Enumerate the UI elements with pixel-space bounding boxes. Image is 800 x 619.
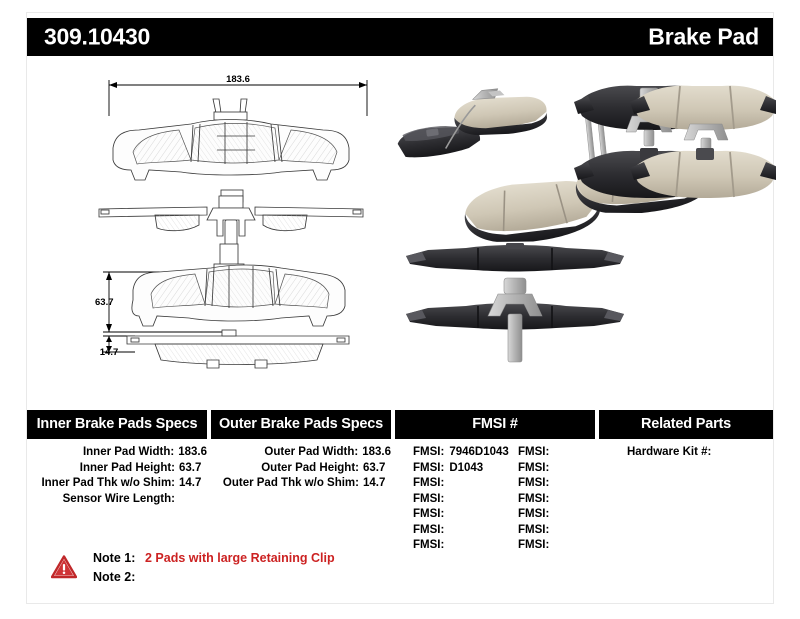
spec-label: Inner Pad Width: <box>27 446 178 458</box>
fmsi-row: FMSI: FMSI: <box>413 493 595 509</box>
spec-row: Outer Pad Height: 63.7 <box>211 462 391 478</box>
spec-value: 14.7 <box>179 477 201 489</box>
fmsi-key: FMSI: <box>518 462 554 478</box>
fmsi-row: FMSI:D1043 FMSI: <box>413 462 595 478</box>
pad-bottom-edge-view <box>127 330 349 368</box>
fmsi-key: FMSI: <box>413 462 449 478</box>
dimension-height-label: 63.7 <box>95 297 114 308</box>
spec-label: Outer Pad Width: <box>211 446 362 458</box>
spec-row: Inner Pad Width: 183.6 <box>27 446 207 462</box>
column-body-outer-specs: Outer Pad Width: 183.6 Outer Pad Height:… <box>211 439 391 508</box>
spec-label: Outer Pad Height: <box>211 462 363 474</box>
fmsi-row: FMSI: FMSI: <box>413 508 595 524</box>
spec-value: 183.6 <box>178 446 207 458</box>
note-1-row: Note 1: 2 Pads with large Retaining Clip <box>93 551 335 570</box>
column-header-inner-specs: Inner Brake Pads Specs <box>27 410 207 439</box>
fmsi-key: FMSI: <box>518 477 554 493</box>
fmsi-key: FMSI: <box>413 508 449 524</box>
fmsi-key: FMSI: <box>413 477 449 493</box>
column-header-fmsi: FMSI # <box>395 410 595 439</box>
note-1-text: 2 Pads with large Retaining Clip <box>145 551 335 565</box>
technical-drawing: 183.6 <box>95 68 405 378</box>
fmsi-key: FMSI: <box>518 446 554 462</box>
notes-section: Note 1: 2 Pads with large Retaining Clip… <box>48 551 468 593</box>
fmsi-row: FMSI: FMSI: <box>413 524 595 540</box>
note-2-row: Note 2: <box>93 570 335 589</box>
edge-view-pads-photo <box>406 243 624 362</box>
fmsi-row: FMSI:7946D1043 FMSI: <box>413 446 595 462</box>
column-outer-specs: Outer Brake Pads Specs Outer Pad Width: … <box>211 410 391 508</box>
spec-label: Inner Pad Height: <box>27 462 179 474</box>
fmsi-key: FMSI: <box>413 446 449 462</box>
datasheet-page: 309.10430 Brake Pad 183.6 <box>0 0 800 619</box>
dimension-thickness-label: 14.7 <box>100 347 119 358</box>
photos-svg <box>390 70 776 375</box>
specifications-table: Inner Brake Pads Specs Inner Pad Width: … <box>27 410 773 540</box>
fmsi-key: FMSI: <box>413 524 449 540</box>
fmsi-key: FMSI: <box>518 524 554 540</box>
spec-row: Inner Pad Height: 63.7 <box>27 462 207 478</box>
note-lines: Note 1: 2 Pads with large Retaining Clip… <box>93 551 335 589</box>
column-inner-specs: Inner Brake Pads Specs Inner Pad Width: … <box>27 410 207 508</box>
column-header-outer-specs: Outer Brake Pads Specs <box>211 410 391 439</box>
note-2-label: Note 2: <box>93 570 145 584</box>
spec-row: Outer Pad Thk w/o Shim: 14.7 <box>211 477 391 493</box>
part-number: 309.10430 <box>44 24 150 51</box>
fmsi-key: FMSI: <box>413 493 449 509</box>
fmsi-grid: FMSI:7946D1043 FMSI: FMSI:D1043 FMSI: FM… <box>395 439 595 555</box>
spec-row: Outer Pad Width: 183.6 <box>211 446 391 462</box>
spec-value: 183.6 <box>362 446 391 458</box>
spec-row <box>211 493 391 509</box>
warning-triangle-icon <box>51 555 77 579</box>
fmsi-key: FMSI: <box>518 493 554 509</box>
fmsi-value: 7946D1043 <box>449 446 508 462</box>
fmsi-value: D1043 <box>449 462 483 478</box>
column-related-parts: Related Parts Hardware Kit #: <box>599 410 773 462</box>
title-bar: 309.10430 Brake Pad <box>27 18 773 56</box>
spec-label: Inner Pad Thk w/o Shim: <box>27 477 179 489</box>
column-fmsi: FMSI # FMSI:7946D1043 FMSI: FMSI:D1043 F… <box>395 410 595 555</box>
drawing-svg: 183.6 <box>95 68 405 378</box>
spec-value: 14.7 <box>363 477 385 489</box>
fmsi-key: FMSI: <box>518 539 554 555</box>
spec-label: Sensor Wire Length: <box>27 493 179 505</box>
related-part-row: Hardware Kit #: <box>627 446 773 462</box>
spec-value: 63.7 <box>179 462 201 474</box>
document-type-label: Brake Pad <box>648 24 759 51</box>
column-header-related-parts: Related Parts <box>599 410 773 439</box>
fmsi-row: FMSI: FMSI: <box>413 477 595 493</box>
spec-label: Outer Pad Thk w/o Shim: <box>211 477 363 489</box>
product-photos <box>390 70 776 375</box>
dimension-width <box>109 80 367 116</box>
note-1-label: Note 1: <box>93 551 145 565</box>
column-body-inner-specs: Inner Pad Width: 183.6 Inner Pad Height:… <box>27 439 207 508</box>
spec-row: Inner Pad Thk w/o Shim: 14.7 <box>27 477 207 493</box>
column-body-related-parts: Hardware Kit #: <box>599 439 773 462</box>
spec-value: 63.7 <box>363 462 385 474</box>
fmsi-key: FMSI: <box>518 508 554 524</box>
spec-row: Sensor Wire Length: <box>27 493 207 509</box>
dimension-width-label: 183.6 <box>226 74 250 85</box>
